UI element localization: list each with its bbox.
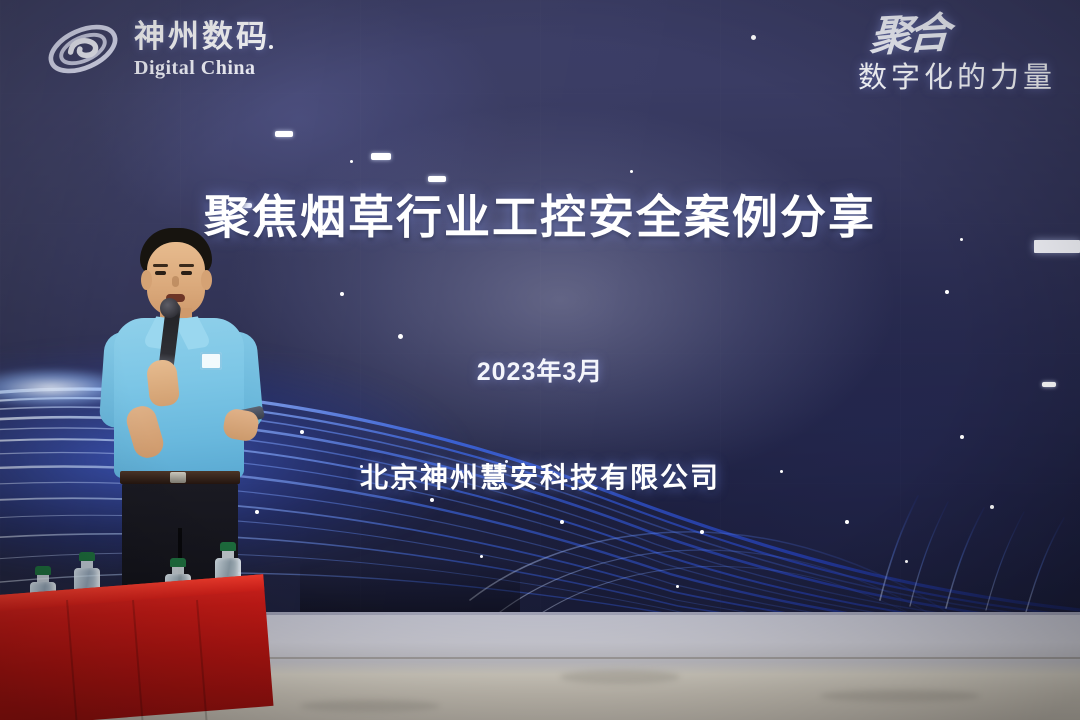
speaker-brow-right bbox=[179, 264, 194, 267]
brand-name-en: Digital China bbox=[134, 58, 270, 78]
speaker-brow-left bbox=[153, 264, 168, 267]
speaker-eye-left bbox=[155, 271, 166, 275]
speaker-chest-logo bbox=[200, 352, 222, 370]
slogan-subtitle: 数字化的力量 bbox=[858, 54, 1056, 96]
event-slogan: 聚合 数字化的力量 bbox=[858, 18, 1056, 96]
speaker-polo-shirt bbox=[114, 318, 244, 478]
backstage-shadow bbox=[300, 560, 520, 616]
digital-china-spiral-logo bbox=[44, 18, 122, 80]
speaker-ear-left bbox=[141, 270, 152, 290]
brand-name-cn: 神州数码 bbox=[134, 21, 270, 52]
speaker-belt-buckle bbox=[170, 472, 186, 483]
conference-stage-photo: 神州数码 Digital China 聚合 数字化的力量 聚焦烟草行业工控安全案… bbox=[0, 0, 1080, 720]
slogan-calligraphy: 聚合 bbox=[869, 16, 947, 58]
speaker-nose bbox=[172, 276, 179, 287]
microphone-head bbox=[160, 298, 179, 318]
speaker-eye-right bbox=[181, 271, 192, 275]
brand-lockup: 神州数码 Digital China bbox=[44, 18, 270, 80]
speaker-ear-right bbox=[201, 270, 212, 290]
speaker-hand-left bbox=[146, 359, 181, 408]
